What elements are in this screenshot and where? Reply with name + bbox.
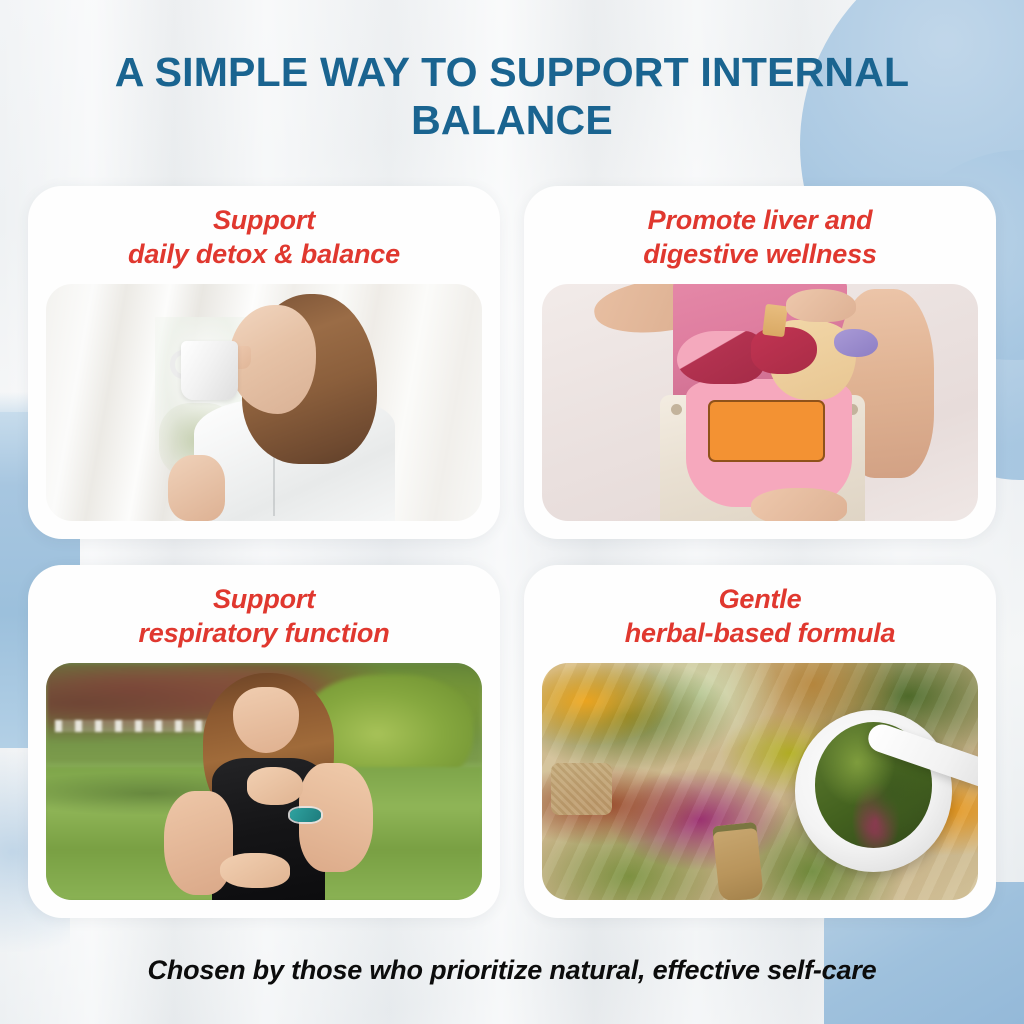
paper-small-intestine-cutout bbox=[708, 400, 826, 462]
paper-bile-duct-cutout bbox=[763, 304, 788, 337]
hand-upper bbox=[786, 289, 856, 322]
turquoise-watch bbox=[290, 808, 321, 822]
benefit-card-detox: Support daily detox & balance bbox=[28, 186, 500, 539]
hand-on-chest bbox=[247, 767, 304, 805]
burlap-cloth bbox=[551, 763, 612, 815]
photo-digestive-organs bbox=[542, 284, 978, 521]
infographic-poster: A SIMPLE WAY TO SUPPORT INTERNAL BALANCE… bbox=[0, 0, 1024, 1024]
card-title-detox: Support daily detox & balance bbox=[112, 186, 416, 284]
wooden-scoop bbox=[713, 822, 764, 900]
left-arm bbox=[164, 791, 234, 895]
card-title-digestive: Promote liver and digestive wellness bbox=[627, 186, 893, 284]
trouser-button-left bbox=[671, 404, 682, 415]
forearm bbox=[168, 455, 225, 521]
card-title-respiratory: Support respiratory function bbox=[122, 565, 405, 663]
paper-spleen-cutout bbox=[834, 329, 878, 357]
photo-dried-herbs bbox=[542, 663, 978, 900]
page-title: A SIMPLE WAY TO SUPPORT INTERNAL BALANCE bbox=[0, 48, 1024, 145]
white-mug bbox=[181, 341, 238, 400]
benefit-card-respiratory: Support respiratory function bbox=[28, 565, 500, 918]
benefit-card-grid: Support daily detox & balance Promote li… bbox=[28, 186, 996, 918]
card-title-herbal: Gentle herbal-based formula bbox=[609, 565, 912, 663]
benefit-card-herbal: Gentle herbal-based formula bbox=[524, 565, 996, 918]
hand-lower bbox=[751, 488, 847, 521]
photo-tea-detox bbox=[46, 284, 482, 521]
hand-on-belly bbox=[220, 853, 290, 889]
benefit-card-digestive: Promote liver and digestive wellness bbox=[524, 186, 996, 539]
photo-breathing-park bbox=[46, 663, 482, 900]
footer-tagline: Chosen by those who prioritize natural, … bbox=[0, 955, 1024, 986]
